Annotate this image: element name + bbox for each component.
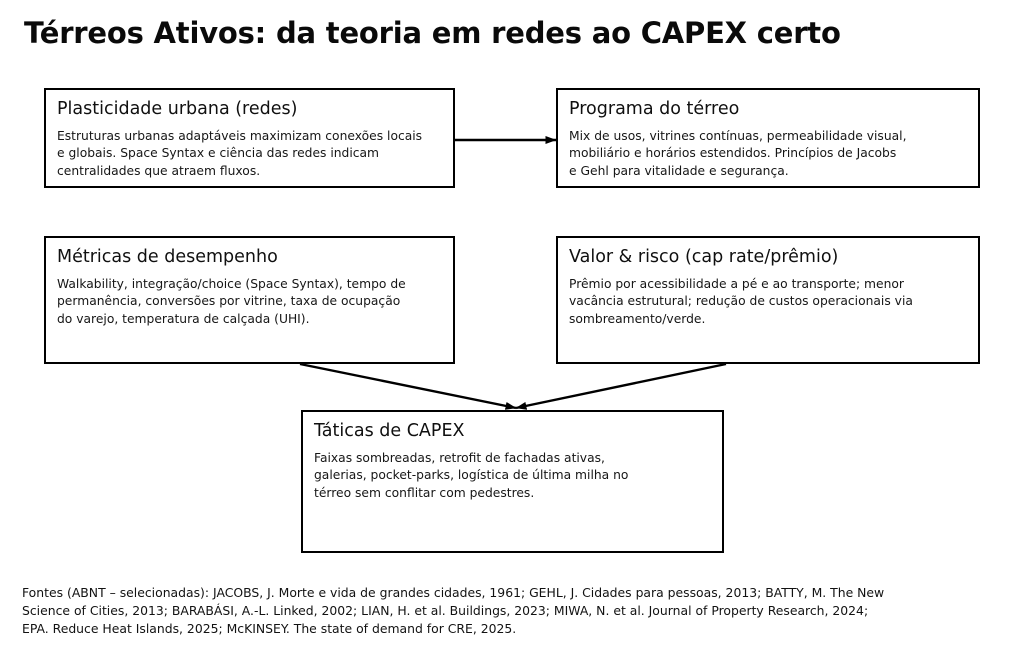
node-valor-e-risco: Valor & risco (cap rate/prêmio) Prêmio p… bbox=[556, 236, 980, 364]
node-body: Prêmio por acessibilidade a pé e ao tran… bbox=[569, 276, 967, 328]
node-body: Estruturas urbanas adaptáveis maximizam … bbox=[57, 128, 442, 180]
edge-valor-to-taticas bbox=[516, 364, 726, 408]
edge-metricas-to-taticas bbox=[300, 364, 516, 408]
page-title: Térreos Ativos: da teoria em redes ao CA… bbox=[24, 17, 841, 50]
node-title: Valor & risco (cap rate/prêmio) bbox=[569, 247, 967, 269]
node-programa-do-terreo: Programa do térreo Mix de usos, vitrines… bbox=[556, 88, 980, 188]
node-body: Mix de usos, vitrines contínuas, permeab… bbox=[569, 128, 967, 180]
node-title: Métricas de desempenho bbox=[57, 247, 442, 269]
node-title: Programa do térreo bbox=[569, 99, 967, 121]
node-body: Faixas sombreadas, retrofit de fachadas … bbox=[314, 450, 711, 502]
node-plasticidade-urbana: Plasticidade urbana (redes) Estruturas u… bbox=[44, 88, 455, 188]
node-title: Plasticidade urbana (redes) bbox=[57, 99, 442, 121]
sources-footnote: Fontes (ABNT – selecionadas): JACOBS, J.… bbox=[22, 584, 982, 638]
node-body: Walkability, integração/choice (Space Sy… bbox=[57, 276, 442, 328]
node-metricas-de-desempenho: Métricas de desempenho Walkability, inte… bbox=[44, 236, 455, 364]
node-title: Táticas de CAPEX bbox=[314, 421, 711, 443]
diagram-canvas: Térreos Ativos: da teoria em redes ao CA… bbox=[0, 0, 1024, 658]
node-taticas-de-capex: Táticas de CAPEX Faixas sombreadas, retr… bbox=[301, 410, 724, 553]
